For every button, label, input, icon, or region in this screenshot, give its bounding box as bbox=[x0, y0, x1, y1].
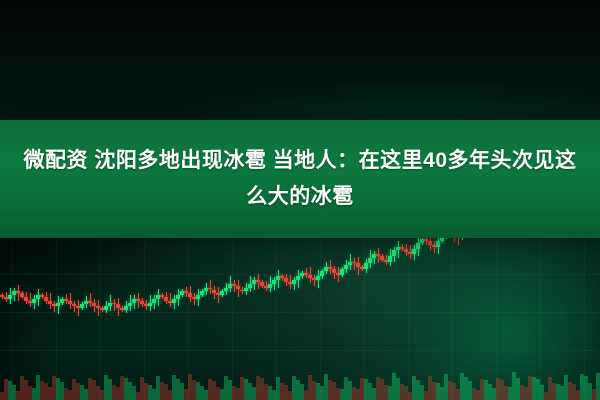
grid-line-vertical bbox=[12, 238, 13, 400]
candle-body bbox=[172, 299, 176, 303]
candle-body bbox=[200, 291, 204, 295]
candle-body bbox=[268, 284, 272, 288]
candle-wick bbox=[234, 280, 235, 292]
grid-line-vertical bbox=[540, 238, 541, 400]
candle-body bbox=[176, 295, 180, 299]
candle-wick bbox=[54, 301, 55, 313]
candle-body bbox=[436, 241, 440, 247]
candle-body bbox=[8, 295, 12, 299]
volume-bar bbox=[596, 373, 600, 400]
grid-line-vertical bbox=[496, 238, 497, 400]
grid-line bbox=[0, 350, 600, 351]
candle-body bbox=[128, 303, 132, 307]
candle-body bbox=[340, 269, 344, 275]
candle-body bbox=[124, 306, 128, 310]
candle-body bbox=[148, 303, 152, 307]
candle-body bbox=[320, 271, 324, 277]
candle-wick bbox=[74, 301, 75, 313]
candle-wick bbox=[114, 299, 115, 311]
candle-body bbox=[248, 284, 252, 288]
candle-body bbox=[104, 306, 108, 310]
candle-body bbox=[392, 250, 396, 256]
grid-line-vertical bbox=[100, 238, 101, 400]
candle-body bbox=[368, 258, 372, 264]
thumbnail-image: 微配资 沈阳多地出现冰雹 当地人：在这里40多年头次见这么大的冰雹 bbox=[0, 0, 600, 400]
candle-body bbox=[416, 243, 420, 249]
candle-body bbox=[364, 263, 368, 269]
headline-banner: 微配资 沈阳多地出现冰雹 当地人：在这里40多年头次见这么大的冰雹 bbox=[0, 120, 600, 238]
candle-body bbox=[220, 291, 224, 295]
grid-line-vertical bbox=[232, 238, 233, 400]
top-strip-glow bbox=[0, 60, 600, 120]
top-dark-strip bbox=[0, 0, 600, 120]
grid-line-vertical bbox=[320, 238, 321, 400]
candle-wick bbox=[354, 258, 355, 270]
candle-body bbox=[224, 288, 228, 292]
candle-wick bbox=[194, 293, 195, 305]
candle-body bbox=[80, 304, 84, 308]
candle-body bbox=[388, 256, 392, 262]
candle-body bbox=[412, 249, 416, 255]
candle-body bbox=[152, 299, 156, 303]
grid-line-vertical bbox=[276, 238, 277, 400]
candle-body bbox=[292, 280, 296, 284]
candle-body bbox=[196, 295, 200, 299]
grid-line bbox=[0, 312, 600, 313]
grid-line-vertical bbox=[452, 238, 453, 400]
candle-body bbox=[344, 265, 348, 269]
candle-body bbox=[56, 303, 60, 307]
grid-line-vertical bbox=[144, 238, 145, 400]
candle-wick bbox=[314, 275, 315, 287]
candle-body bbox=[32, 299, 36, 303]
candle-wick bbox=[434, 241, 435, 253]
candle-body bbox=[316, 276, 320, 280]
candle-body bbox=[272, 280, 276, 284]
candle-body bbox=[296, 276, 300, 280]
grid-line-vertical bbox=[56, 238, 57, 400]
candle-body bbox=[244, 288, 248, 292]
grid-line-vertical bbox=[408, 238, 409, 400]
headline-text: 微配资 沈阳多地出现冰雹 当地人：在这里40多年头次见这么大的冰雹 bbox=[20, 143, 580, 215]
